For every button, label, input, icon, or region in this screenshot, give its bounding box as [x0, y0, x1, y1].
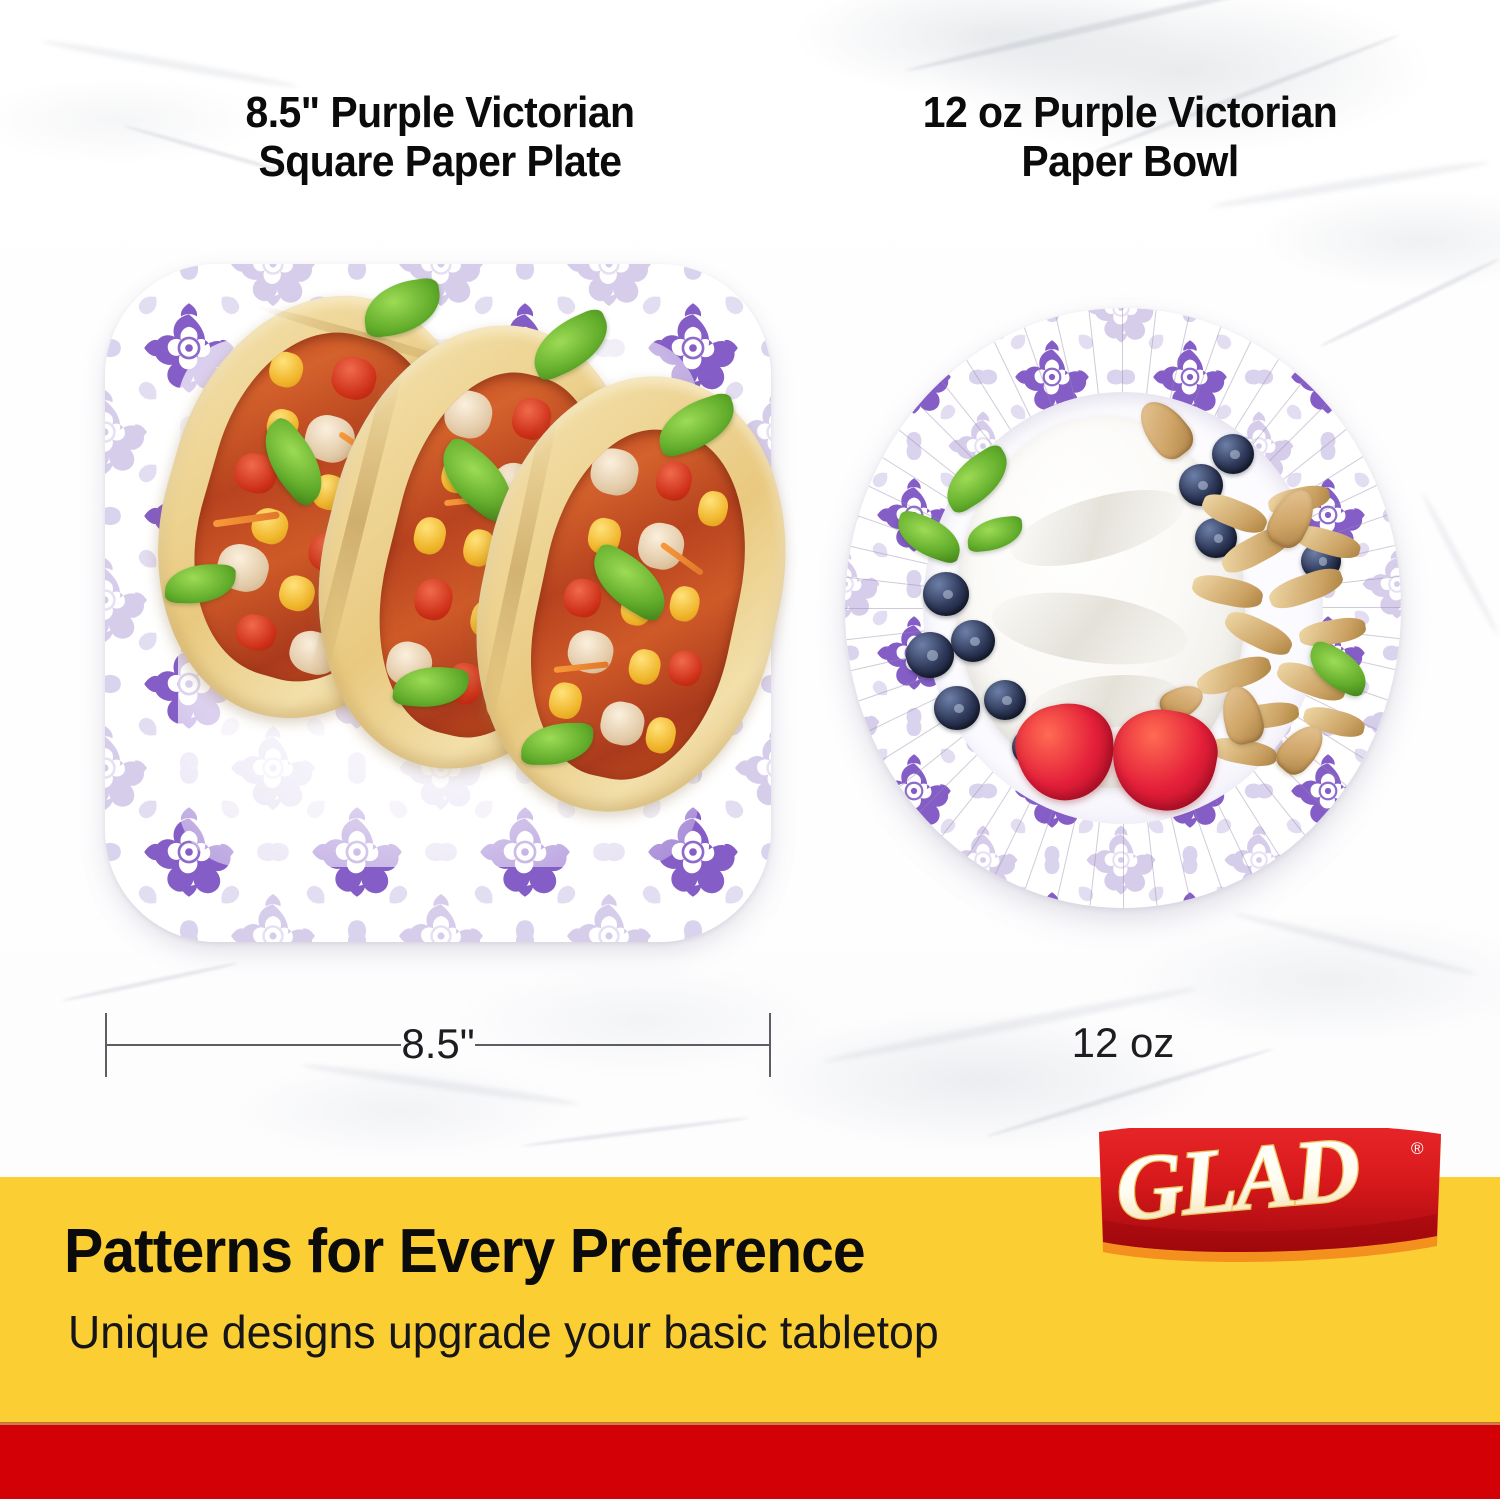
product-heading-left: 8.5" Purple Victorian Square Paper Plate	[152, 88, 729, 187]
bowl-surface	[845, 308, 1401, 908]
glad-logo: GLAD ®	[1095, 1128, 1445, 1288]
blueberry	[1212, 434, 1254, 474]
blueberry	[934, 686, 980, 730]
blueberry	[951, 620, 995, 662]
paper-bowl	[845, 308, 1401, 908]
heading-left-line2: Square Paper Plate	[152, 137, 729, 186]
heading-left-line1: 8.5" Purple Victorian	[152, 88, 729, 137]
heading-right-line1: 12 oz Purple Victorian	[842, 88, 1419, 137]
banner-title: Patterns for Every Preference	[64, 1221, 1071, 1283]
dimension-label-bowl: 12 oz	[845, 1011, 1401, 1075]
banner-subtitle: Unique designs upgrade your basic tablet…	[68, 1307, 1116, 1358]
dimension-line-plate: 8.5"	[105, 1013, 771, 1077]
product-infographic: 8.5" Purple Victorian Square Paper Plate…	[0, 0, 1500, 1499]
blueberry	[923, 572, 969, 616]
blueberry	[984, 680, 1026, 720]
square-paper-plate	[105, 264, 771, 942]
bottom-red-bar	[0, 1425, 1500, 1499]
heading-right-line2: Paper Bowl	[842, 137, 1419, 186]
registered-mark-icon: ®	[1411, 1139, 1424, 1158]
product-heading-right: 12 oz Purple Victorian Paper Bowl	[842, 88, 1419, 187]
dimension-label-plate: 8.5"	[383, 1011, 492, 1077]
blueberry	[906, 632, 954, 678]
